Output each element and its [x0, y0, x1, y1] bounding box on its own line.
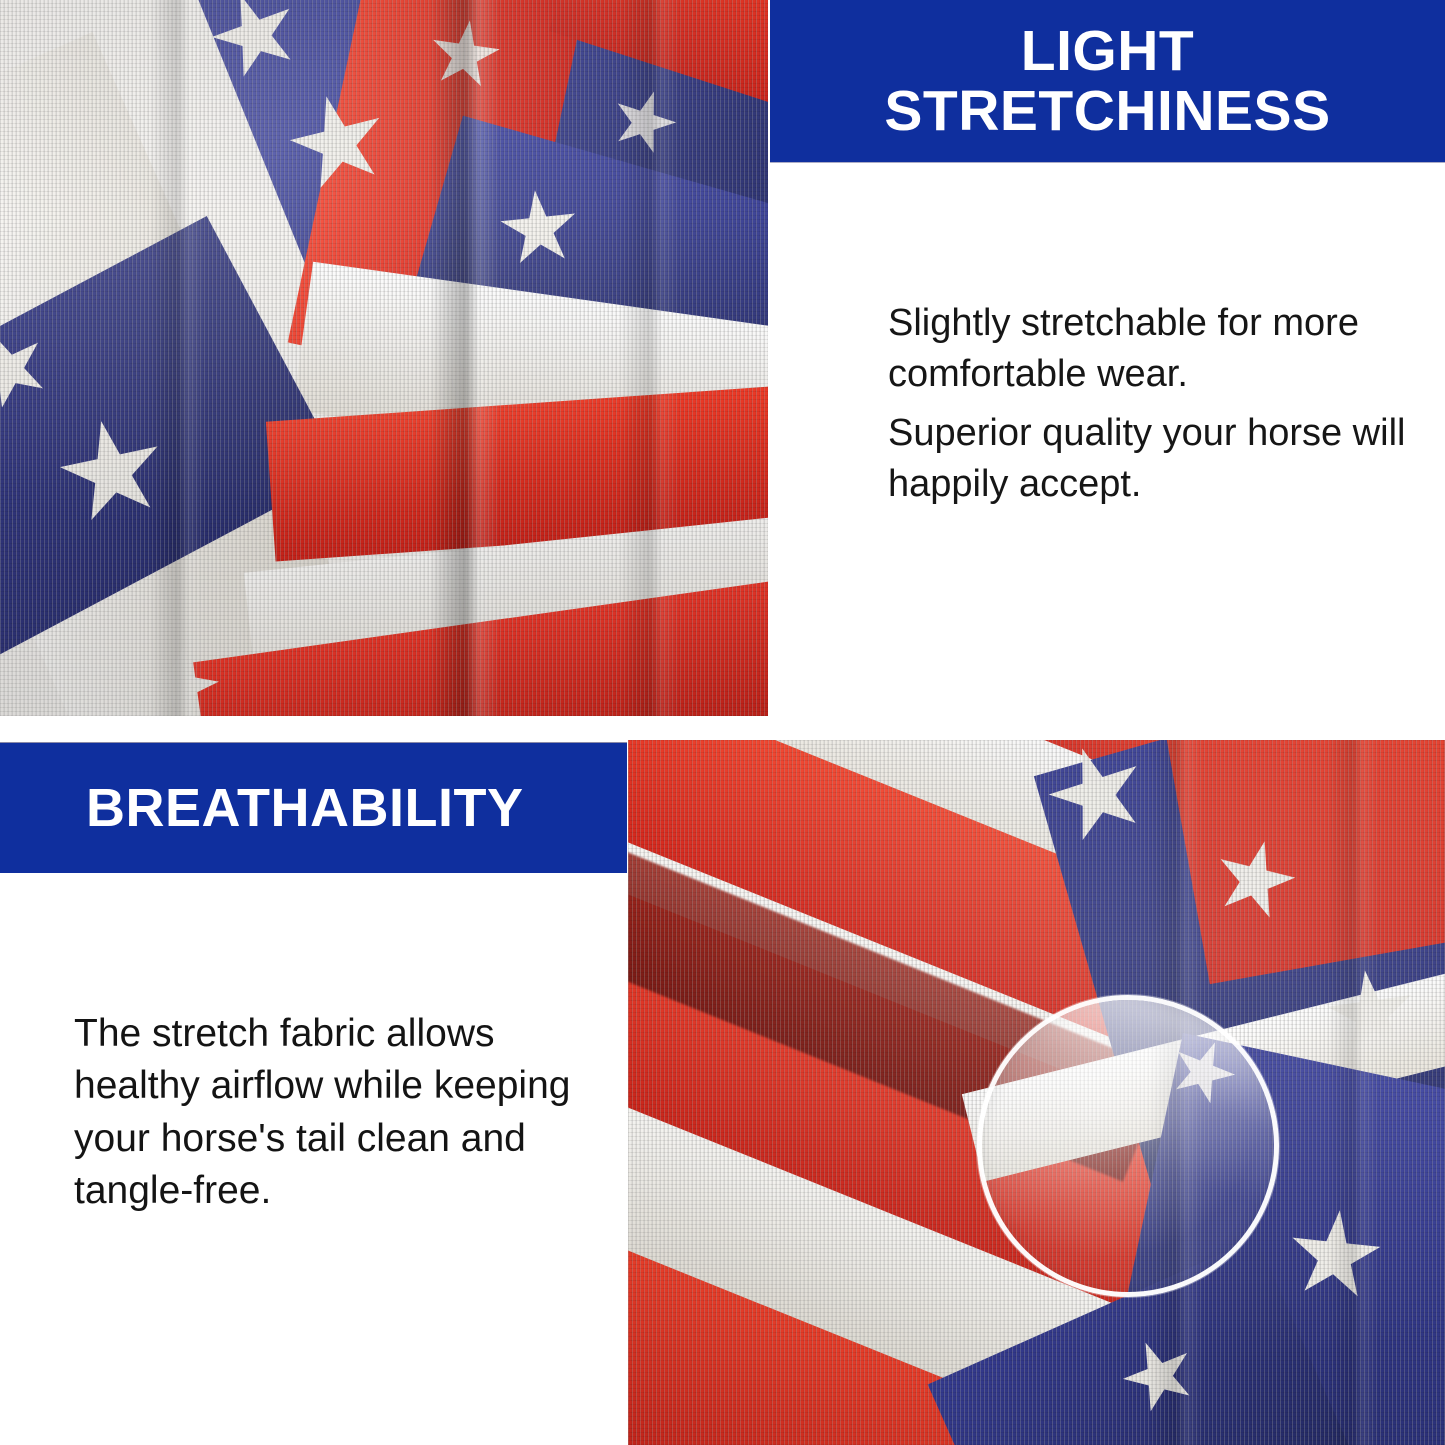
banner-light-stretchiness: LIGHT STRETCHINESS: [770, 0, 1445, 162]
infographic-page: LIGHT STRETCHINESS Slightly stretchable …: [0, 0, 1445, 1445]
breathability-panel: BREATHABILITY The stretch fabric allows …: [0, 743, 627, 1445]
banner-breathability: BREATHABILITY: [0, 743, 627, 873]
banner-line-1: LIGHT: [884, 21, 1330, 81]
light-stretchiness-paragraph-1: Slightly stretchable for more comfortabl…: [888, 298, 1408, 400]
banner-line-2: STRETCHINESS: [884, 81, 1330, 141]
light-stretchiness-paragraph-2: Superior quality your horse will happily…: [888, 408, 1408, 510]
banner-breathability-text: BREATHABILITY: [0, 777, 523, 839]
light-stretchiness-panel: LIGHT STRETCHINESS Slightly stretchable …: [770, 0, 1445, 716]
breathability-paragraph-1: The stretch fabric allows healthy airflo…: [74, 1008, 604, 1217]
flag-fabric-photo-bottom-right: [628, 740, 1445, 1445]
banner-light-stretchiness-text: LIGHT STRETCHINESS: [884, 21, 1330, 142]
flag-fabric-photo-top-left: [0, 0, 768, 716]
